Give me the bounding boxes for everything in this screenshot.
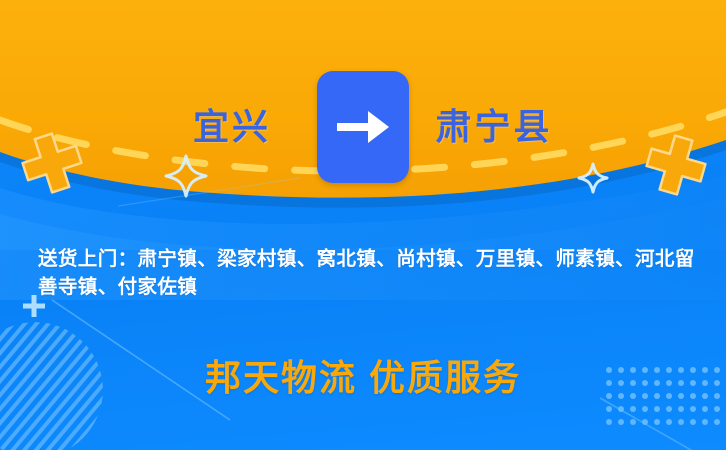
delivery-coverage-text: 送货上门：肃宁镇、梁家村镇、窝北镇、尚村镇、万里镇、师素镇、河北留 善寺镇、付家…: [38, 246, 698, 301]
route-arrow-box: [317, 71, 409, 183]
logistics-banner: 宜兴 肃宁县 送货上门：肃宁镇、梁家村镇、窝北镇、尚村镇、万里镇、师素镇、河北留…: [0, 0, 726, 450]
route-header: 宜兴 肃宁县: [0, 82, 726, 172]
company-slogan: 邦天物流 优质服务: [0, 358, 726, 398]
delivery-line-1: 送货上门：肃宁镇、梁家村镇、窝北镇、尚村镇、万里镇、师素镇、河北留: [38, 246, 698, 274]
destination-city-label: 肃宁县: [409, 109, 579, 145]
origin-city-label: 宜兴: [147, 109, 317, 145]
delivery-line-2: 善寺镇、付家佐镇: [38, 274, 698, 302]
arrow-right-icon: [335, 106, 391, 148]
